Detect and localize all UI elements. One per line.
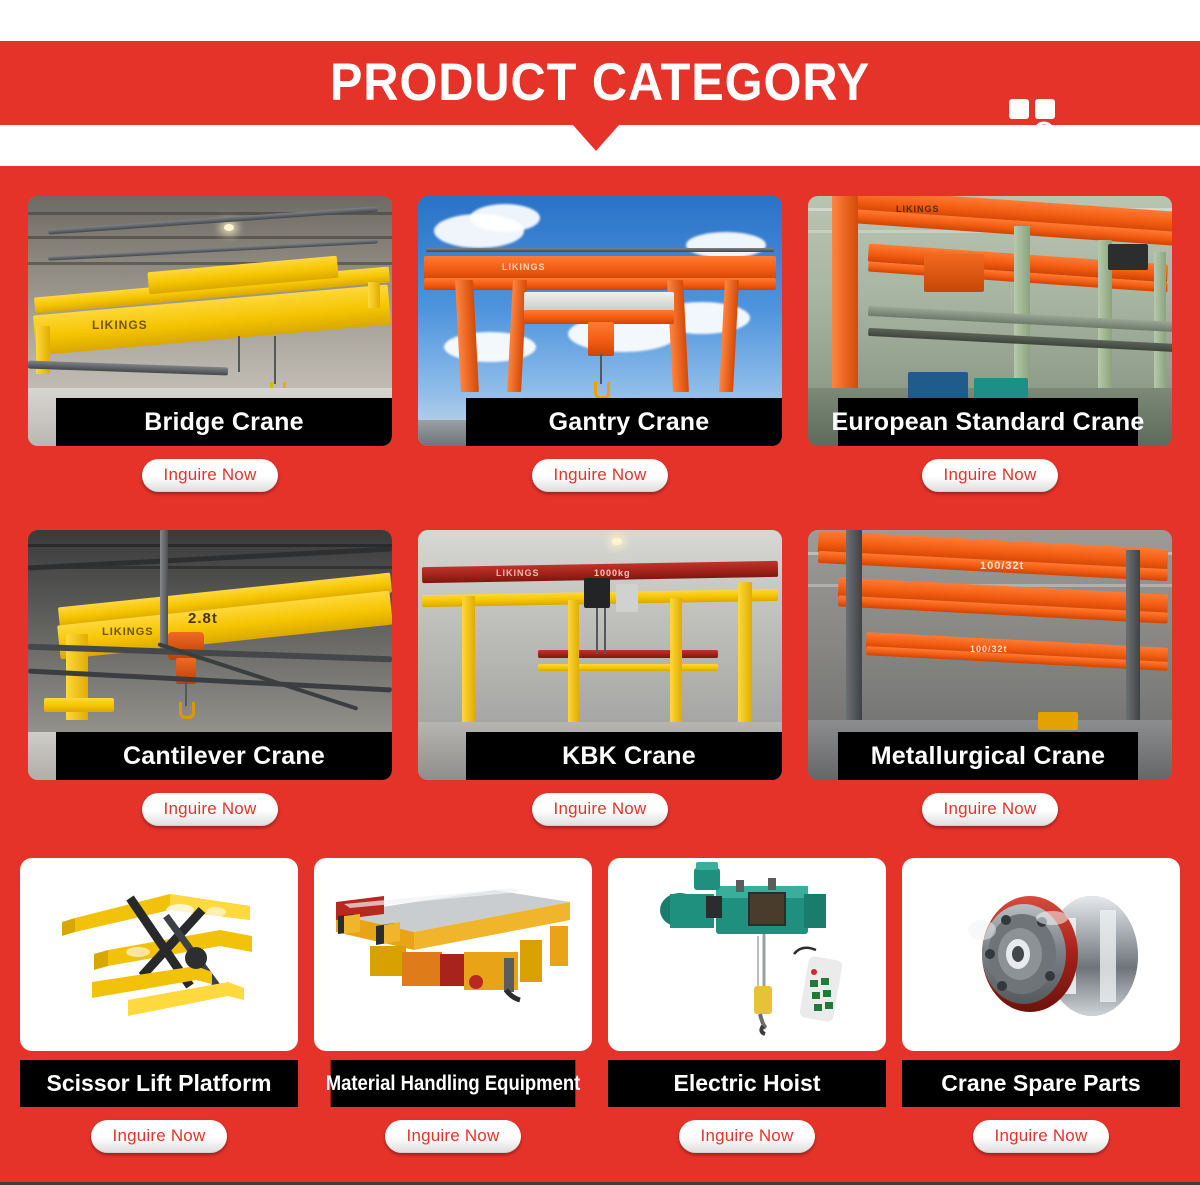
- card-label: KBK Crane: [466, 732, 782, 780]
- inquire-wrap: Inguire Now: [142, 792, 278, 826]
- inquire-wrap: Inguire Now: [922, 458, 1058, 492]
- category-card-bridge-crane[interactable]: LIKINGS Bridge Crane Inguire Now: [28, 196, 392, 506]
- inquire-now-button[interactable]: Inguire Now: [385, 1120, 521, 1153]
- european-standard-crane-photo[interactable]: LIKINGS European Standard Crane: [808, 196, 1172, 446]
- photo-row-1: LIKINGS Bridge Crane Inguire Now: [0, 196, 1200, 506]
- crane-spare-parts-product[interactable]: [902, 858, 1180, 1051]
- scissor-lift-illustration: [20, 858, 298, 1051]
- card-label: Material Handling Equipment: [331, 1060, 576, 1107]
- metallurgical-crane-photo[interactable]: 100/32t 100/32t Metallurgical Crane: [808, 530, 1172, 780]
- material-handling-equipment-product[interactable]: [314, 858, 592, 1051]
- inquire-now-button[interactable]: Inguire Now: [142, 793, 278, 826]
- card-label: Gantry Crane: [466, 398, 782, 446]
- crane-gearbox-illustration: [902, 858, 1180, 1051]
- scissor-lift-platform-product[interactable]: [20, 858, 298, 1051]
- cantilever-crane-photo[interactable]: LIKINGS 2.8t Cantilever Crane: [28, 530, 392, 780]
- category-card-metallurgical-crane[interactable]: 100/32t 100/32t Metallurgical Crane Ingu…: [808, 530, 1172, 840]
- photo-row-2: LIKINGS 2.8t Cantilever Crane Inguire No…: [0, 530, 1200, 840]
- page-title: PRODUCT CATEGORY: [48, 41, 1152, 125]
- card-label: Metallurgical Crane: [838, 732, 1138, 780]
- grid-search-icon[interactable]: [1008, 98, 1060, 150]
- gantry-crane-photo[interactable]: LIKINGS Gantry Crane: [418, 196, 782, 446]
- inquire-now-button[interactable]: Inguire Now: [922, 459, 1058, 492]
- electric-hoist-product[interactable]: [608, 858, 886, 1051]
- inquire-wrap: Inguire Now: [922, 792, 1058, 826]
- inquire-now-button[interactable]: Inguire Now: [532, 459, 668, 492]
- category-card-cantilever-crane[interactable]: LIKINGS 2.8t Cantilever Crane Inguire No…: [28, 530, 392, 840]
- category-card-european-standard-crane[interactable]: LIKINGS European Standard Crane Inguire …: [808, 196, 1172, 506]
- header-notch-triangle: [573, 125, 619, 151]
- kbk-crane-photo[interactable]: LIKINGS 1000kg KBK Crane: [418, 530, 782, 780]
- inquire-wrap: Inguire Now: [973, 1119, 1109, 1153]
- inquire-wrap: Inguire Now: [679, 1119, 815, 1153]
- inquire-wrap: Inguire Now: [91, 1119, 227, 1153]
- category-card-gantry-crane[interactable]: LIKINGS Gantry Crane Inguire Now: [418, 196, 782, 506]
- card-label: Crane Spare Parts: [902, 1060, 1180, 1107]
- inquire-now-button[interactable]: Inguire Now: [679, 1120, 815, 1153]
- inquire-wrap: Inguire Now: [385, 1119, 521, 1153]
- card-label: European Standard Crane: [838, 398, 1138, 446]
- inquire-now-button[interactable]: Inguire Now: [91, 1120, 227, 1153]
- header-band: PRODUCT CATEGORY: [0, 41, 1200, 125]
- inquire-now-button[interactable]: Inguire Now: [922, 793, 1058, 826]
- electric-hoist-illustration: [608, 858, 886, 1051]
- bridge-crane-photo[interactable]: LIKINGS Bridge Crane: [28, 196, 392, 446]
- card-label: Bridge Crane: [56, 398, 392, 446]
- inquire-wrap: Inguire Now: [532, 792, 668, 826]
- inquire-wrap: Inguire Now: [142, 458, 278, 492]
- category-card-kbk-crane[interactable]: LIKINGS 1000kg KBK Crane Inguire Now: [418, 530, 782, 840]
- transfer-cart-illustration: [314, 858, 592, 1051]
- inquire-wrap: Inguire Now: [532, 458, 668, 492]
- card-label: Cantilever Crane: [56, 732, 392, 780]
- card-label: Electric Hoist: [608, 1060, 886, 1107]
- card-label: Scissor Lift Platform: [20, 1060, 298, 1107]
- inquire-now-button[interactable]: Inguire Now: [532, 793, 668, 826]
- product-row-3: Scissor Lift Platform Inguire Now: [0, 858, 1200, 1168]
- category-card-scissor-lift-platform[interactable]: Scissor Lift Platform Inguire Now: [18, 858, 301, 1168]
- inquire-now-button[interactable]: Inguire Now: [973, 1120, 1109, 1153]
- category-card-electric-hoist[interactable]: Electric Hoist Inguire Now: [606, 858, 889, 1168]
- inquire-now-button[interactable]: Inguire Now: [142, 459, 278, 492]
- category-card-material-handling-equipment[interactable]: Material Handling Equipment Inguire Now: [312, 858, 595, 1168]
- product-category-page: PRODUCT CATEGORY: [0, 0, 1200, 1185]
- categories-panel: LIKINGS Bridge Crane Inguire Now: [0, 166, 1200, 1182]
- category-card-crane-spare-parts[interactable]: Crane Spare Parts Inguire Now: [900, 858, 1183, 1168]
